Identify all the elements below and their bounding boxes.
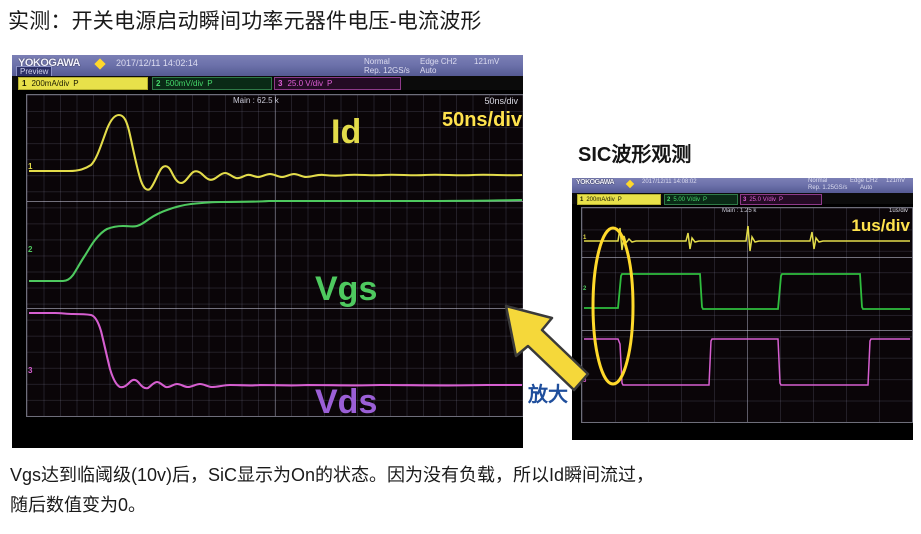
trace-id bbox=[29, 115, 522, 190]
caption-block: Vgs达到临阈级(10v)后，SiC显示为On的状态。因为没有负载，所以Id瞬间… bbox=[10, 460, 910, 520]
right-scope-timestamp: 2017/12/11 14:08:02 bbox=[642, 179, 697, 185]
left-channel-chip-1[interactable]: 1 200mA/div P bbox=[18, 77, 148, 90]
right-ch3-scale: 25.0 V/div bbox=[749, 197, 776, 203]
left-scope-header: YOKOGAWA 2017/12/11 14:02:14 Normal Edge… bbox=[12, 55, 523, 76]
trace-vgs bbox=[29, 200, 522, 281]
right-channel-chip-1[interactable]: 1 200mA/div P bbox=[577, 194, 661, 205]
right-scope-header: YOKOGAWA 2017/12/11 14:08:02 Normal Edge… bbox=[572, 178, 913, 193]
slide-root: 实测：开关电源启动瞬间功率元器件电压-电流波形 YOKOGAWA 2017/12… bbox=[0, 0, 921, 534]
zoom-annotation-label: 放大 bbox=[528, 378, 568, 407]
left-channel-chip-2[interactable]: 2 500mV/div P bbox=[152, 77, 272, 90]
left-trigger-mode: Normal bbox=[364, 57, 390, 66]
status-diamond-icon bbox=[94, 58, 105, 69]
right-ch1-number: 1 bbox=[580, 197, 583, 203]
right-ch1-coupling: P bbox=[618, 197, 622, 203]
left-trace-label-vgs: Vgs bbox=[315, 270, 377, 309]
left-ch1-number: 1 bbox=[22, 79, 26, 88]
left-trigger-source: Edge CH2 bbox=[420, 57, 457, 66]
right-oscilloscope-screenshot: YOKOGAWA 2017/12/11 14:08:02 Normal Edge… bbox=[572, 178, 913, 440]
right-ch2-scale: 5.00 V/div bbox=[673, 197, 700, 203]
left-waveform-canvas bbox=[27, 95, 523, 416]
right-acq-mode: Auto bbox=[860, 185, 872, 191]
caption-line-1: Vgs达到临阈级(10v)后，SiC显示为On的状态。因为没有负载，所以Id瞬间… bbox=[10, 460, 910, 490]
left-ch3-number: 3 bbox=[278, 79, 282, 88]
left-acq-mode: Auto bbox=[420, 66, 436, 75]
right-channel-chip-3[interactable]: 3 25.0 V/div P bbox=[740, 194, 822, 205]
right-ch1-scale: 200mA/div bbox=[586, 197, 614, 203]
left-scope-timestamp: 2017/12/11 14:02:14 bbox=[116, 58, 198, 68]
left-trace-label-vds: Vds bbox=[315, 383, 377, 417]
left-sample-rate: Rep. 12GS/s bbox=[364, 66, 410, 75]
right-ch2-coupling: P bbox=[703, 197, 707, 203]
right-ch3-coupling: P bbox=[779, 197, 783, 203]
left-channel-chip-3[interactable]: 3 25.0 V/div P bbox=[274, 77, 401, 90]
yokogawa-logo-right: YOKOGAWA bbox=[576, 179, 614, 186]
left-ch3-coupling: P bbox=[327, 79, 332, 88]
left-ch2-coupling: P bbox=[207, 79, 212, 88]
status-diamond-icon-right bbox=[626, 180, 634, 188]
left-ch1-scale: 200mA/div bbox=[31, 79, 69, 88]
highlight-ellipse-icon bbox=[582, 208, 912, 422]
trace-vds bbox=[29, 313, 522, 388]
left-ch3-scale: 25.0 V/div bbox=[287, 79, 323, 88]
left-ch2-number: 2 bbox=[156, 79, 160, 88]
right-channel-bar: 1 200mA/div P 2 5.00 V/div P 3 25.0 V/di… bbox=[572, 193, 913, 204]
right-channel-chip-2[interactable]: 2 5.00 V/div P bbox=[664, 194, 738, 205]
left-scope-graticule: Main : 62.5 k 50ns/div 50ns/div 1 2 3 Id… bbox=[26, 94, 523, 417]
caption-line-2: 随后数值变为0。 bbox=[10, 490, 910, 520]
left-ch2-scale: 500mV/div bbox=[165, 79, 203, 88]
left-trace-label-id: Id bbox=[331, 113, 361, 152]
left-channel-bar: 1 200mA/div P 2 500mV/div P 3 25.0 V/div… bbox=[12, 76, 523, 90]
right-sample-rate: Rep. 1.25GS/s bbox=[808, 185, 847, 191]
right-ch3-number: 3 bbox=[743, 197, 746, 203]
right-ch2-number: 2 bbox=[667, 197, 670, 203]
right-trigger-mode: Normal bbox=[808, 178, 827, 184]
left-oscilloscope-screenshot: YOKOGAWA 2017/12/11 14:02:14 Normal Edge… bbox=[12, 55, 523, 448]
right-trigger-source: Edge CH2 bbox=[850, 178, 878, 184]
sic-section-title: SIC波形观测 bbox=[578, 138, 691, 167]
right-trigger-level: 121mV bbox=[886, 178, 905, 184]
right-scope-graticule: Main : 1.25 k 1us/div 1us/div 1 2 3 bbox=[581, 207, 913, 423]
left-ch1-coupling: P bbox=[73, 79, 78, 88]
page-title: 实测：开关电源启动瞬间功率元器件电压-电流波形 bbox=[8, 8, 808, 36]
left-trigger-level: 121mV bbox=[474, 57, 499, 66]
